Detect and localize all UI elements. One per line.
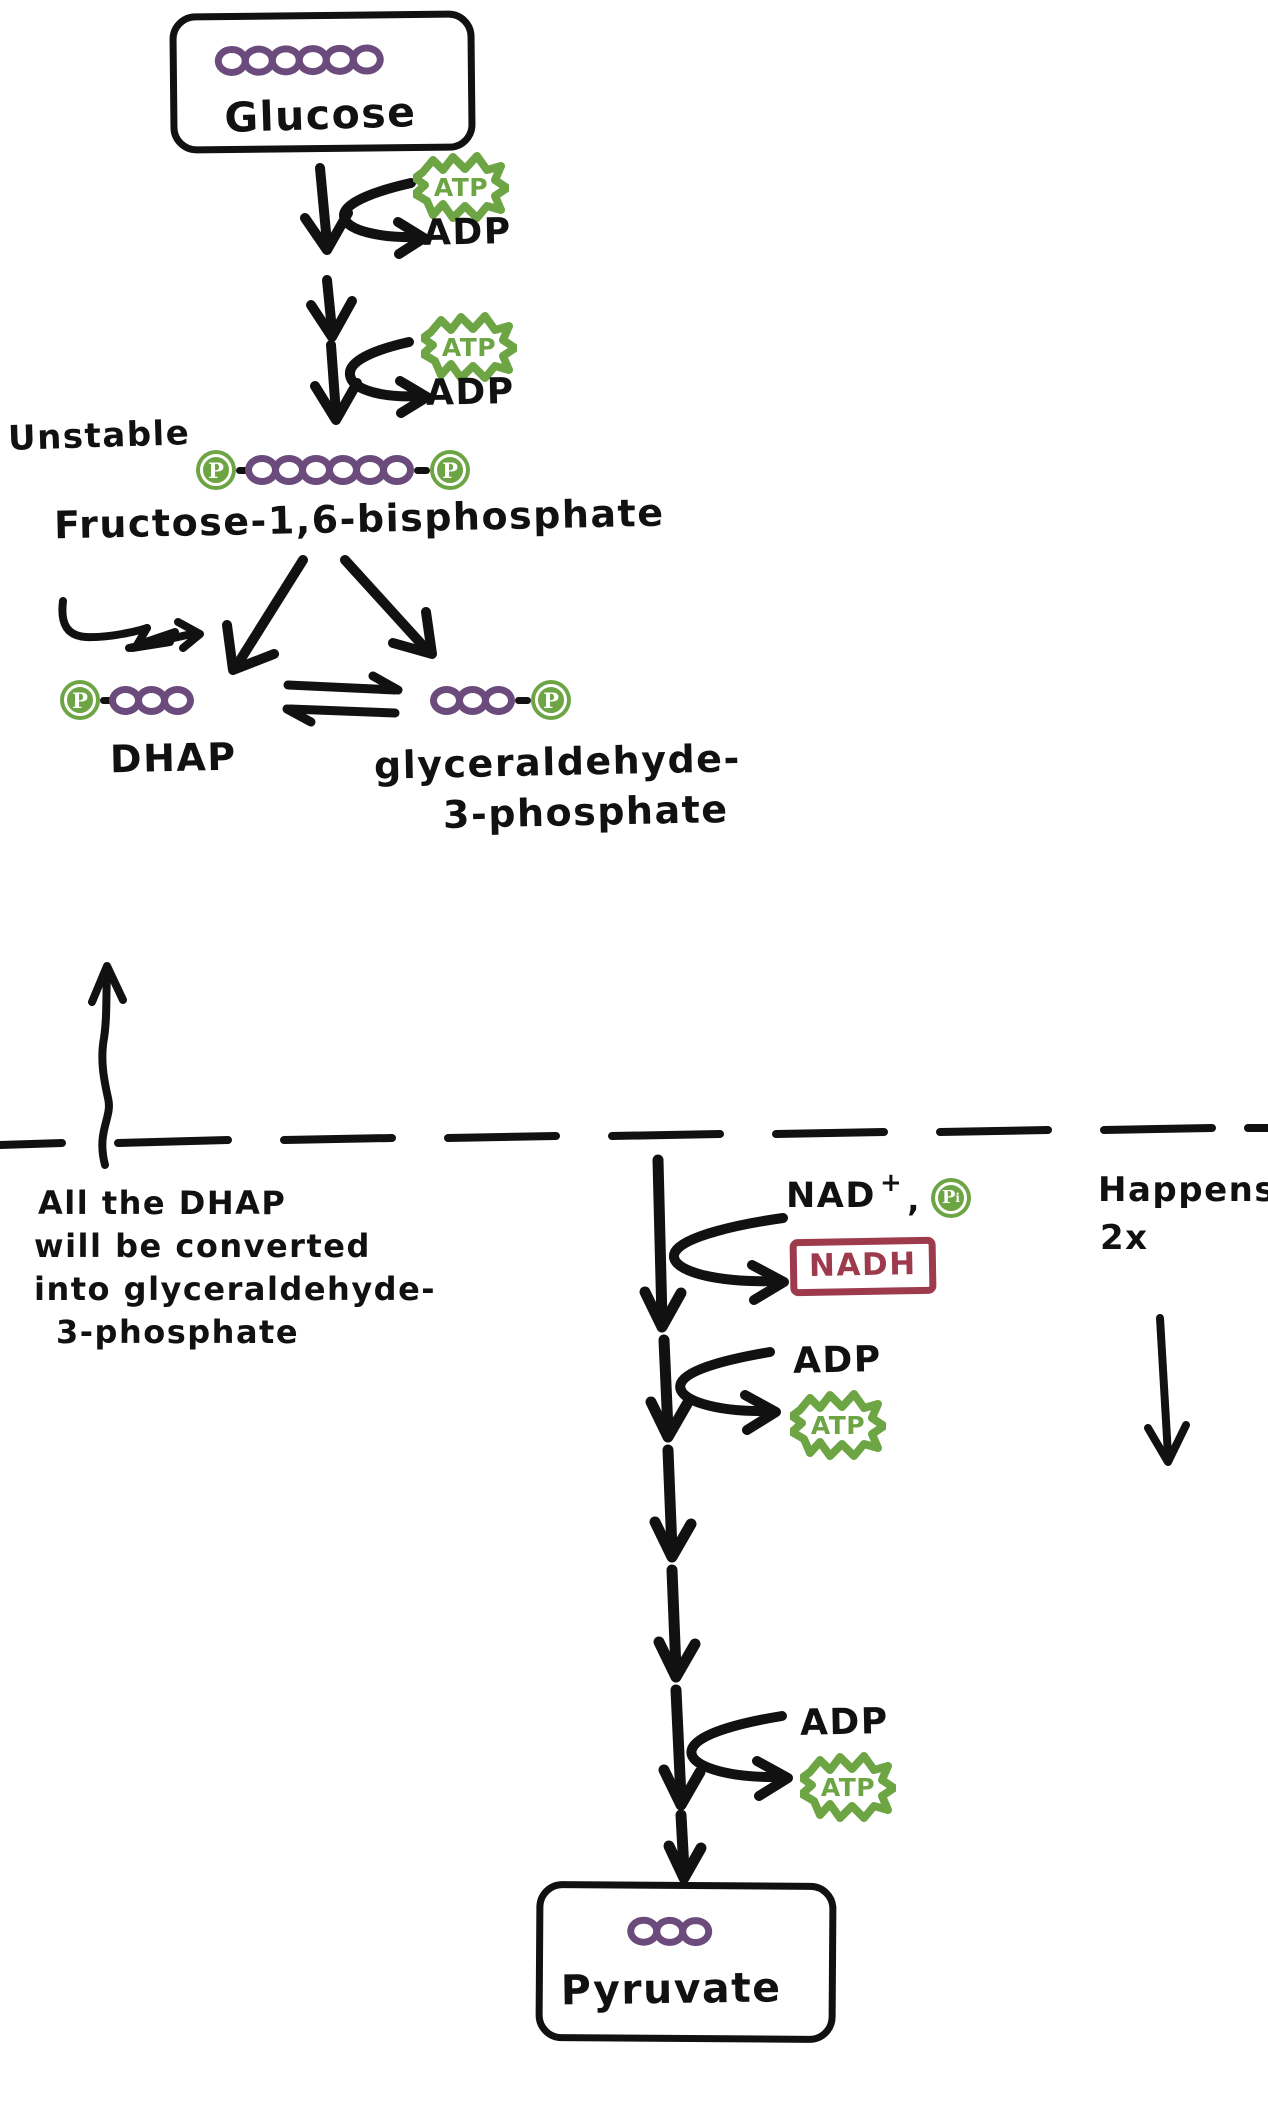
atp-label: ATP bbox=[434, 173, 488, 202]
arrow-fbp-to-g3p bbox=[345, 560, 432, 654]
loop-arrow-atp-4 bbox=[691, 1716, 788, 1796]
annotation-happens-line1: Happens bbox=[1098, 1170, 1268, 1210]
loop-arrow-atp-1 bbox=[344, 183, 424, 254]
annotation-unstable: Unstable bbox=[7, 413, 190, 459]
node-pyruvate[interactable]: Pyruvate bbox=[535, 1881, 836, 2043]
phosphate-left-icon: P bbox=[196, 450, 236, 490]
annotation-dhap-note-line4: 3-phosphate bbox=[56, 1314, 299, 1352]
pi-phosphate-icon: Pi bbox=[931, 1178, 971, 1218]
nad-label: NAD bbox=[786, 1176, 876, 1217]
annotation-dhap-note-line3: into glyceraldehyde- bbox=[34, 1271, 436, 1309]
annotation-dhap-note-line1: All the DHAP bbox=[38, 1185, 286, 1223]
nad-superscript: + bbox=[880, 1168, 903, 1199]
g3p-label-line2: 3-phosphate bbox=[443, 787, 729, 838]
g3p-chain: P bbox=[430, 680, 571, 720]
phosphate-right-icon: P bbox=[430, 450, 470, 490]
adp-label-2: ADP bbox=[426, 371, 516, 415]
loop-arrow-atp-2 bbox=[350, 342, 427, 413]
adp-label-1: ADP bbox=[423, 211, 513, 255]
pyruvate-carbon-chain bbox=[627, 1917, 712, 1947]
arrow-to-pyruvate bbox=[669, 1815, 701, 1878]
equilibrium-arrows bbox=[287, 676, 398, 722]
atp-burst-3[interactable]: ATP bbox=[790, 1390, 886, 1460]
glucose-carbon-chain bbox=[215, 44, 384, 76]
phosphate-left-icon: P bbox=[60, 680, 100, 720]
glucose-label: Glucose bbox=[224, 88, 418, 142]
arrow-g3p-step4 bbox=[659, 1570, 695, 1677]
arrow-layer bbox=[0, 0, 1268, 2108]
dhap-chain: P bbox=[60, 680, 194, 720]
bond bbox=[515, 697, 531, 704]
atp-label: ATP bbox=[442, 333, 496, 362]
arrow-g6p-to-f6p bbox=[311, 280, 352, 337]
nadh-label: NADH bbox=[809, 1246, 917, 1284]
dashed-divider bbox=[0, 1128, 1268, 1145]
nad-comma: , bbox=[907, 1182, 921, 1220]
annotation-dhap-note-line2: will be converted bbox=[34, 1228, 371, 1266]
nad-pi-group: NAD + , Pi bbox=[786, 1176, 971, 1218]
carbon-ring bbox=[482, 686, 515, 715]
atp-label: ATP bbox=[811, 1411, 865, 1440]
loop-arrow-nadh bbox=[674, 1218, 784, 1300]
carbon-ring bbox=[350, 44, 384, 74]
carbon-ring bbox=[161, 686, 194, 715]
arrow-happens-2x bbox=[1148, 1318, 1186, 1462]
phosphate-right-icon: P bbox=[531, 680, 571, 720]
arrow-g3p-step3 bbox=[655, 1450, 691, 1557]
loop-arrow-atp-3 bbox=[680, 1352, 776, 1430]
nadh-box[interactable]: NADH bbox=[790, 1237, 937, 1297]
carbon-ring bbox=[679, 1917, 712, 1946]
arrow-note-to-dhap bbox=[92, 966, 123, 1165]
adp-label-3: ADP bbox=[793, 1339, 883, 1383]
arrow-g3p-step1 bbox=[645, 1160, 681, 1327]
adp-label-4: ADP bbox=[800, 1701, 890, 1745]
node-glucose[interactable]: Glucose bbox=[169, 10, 475, 153]
squiggle-arrow-unstable bbox=[62, 601, 200, 648]
pyruvate-label: Pyruvate bbox=[560, 1963, 781, 2014]
glycolysis-diagram: Glucose ATP ADP ATP ADP Unstable P P Fru… bbox=[0, 0, 1268, 2108]
fructose-chain: P P bbox=[196, 450, 470, 490]
bond bbox=[414, 467, 430, 474]
annotation-happens-line2: 2x bbox=[1100, 1218, 1149, 1258]
dhap-label: DHAP bbox=[110, 735, 238, 782]
atp-label: ATP bbox=[821, 1773, 875, 1802]
atp-burst-4[interactable]: ATP bbox=[800, 1752, 896, 1822]
carbon-ring bbox=[380, 455, 414, 485]
arrow-fbp-to-dhap bbox=[227, 560, 303, 670]
g3p-label-line1: glyceraldehyde- bbox=[374, 736, 742, 788]
